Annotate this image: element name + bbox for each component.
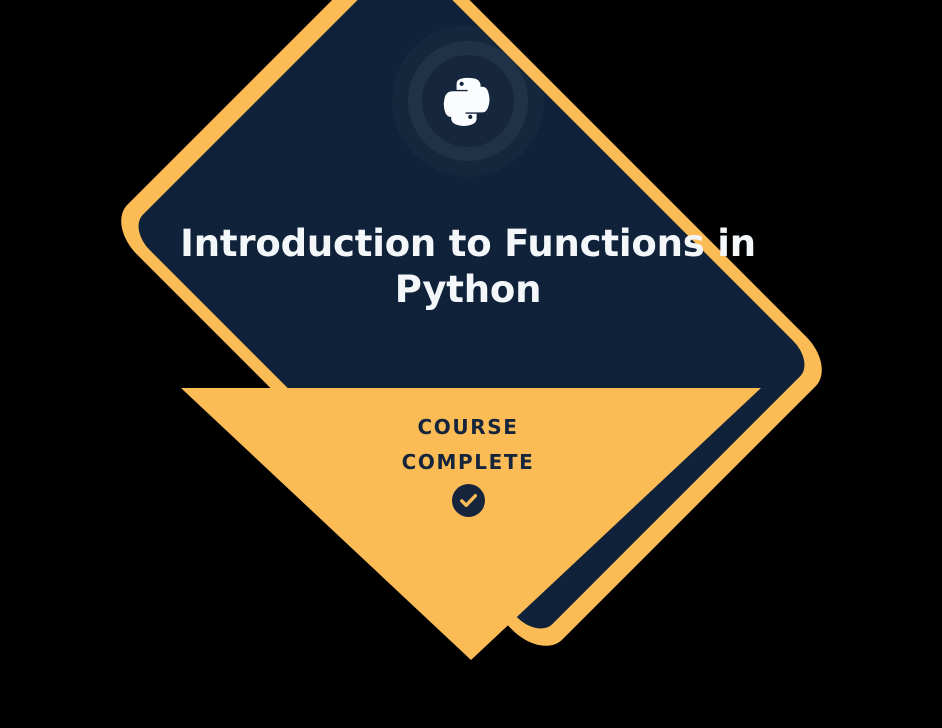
course-title-line-2: Python — [395, 268, 542, 311]
python-logo-icon — [442, 75, 494, 127]
check-circle-icon — [452, 484, 485, 517]
status-label: COURSE COMPLETE — [271, 410, 665, 480]
course-title: Introduction to Functions in Python — [171, 221, 765, 313]
course-title-line-1: Introduction to Functions in — [180, 222, 756, 265]
status-label-line-1: COURSE — [271, 410, 665, 445]
course-complete-badge: Introduction to Functions in Python COUR… — [0, 0, 942, 567]
status-label-line-2: COMPLETE — [271, 445, 665, 480]
